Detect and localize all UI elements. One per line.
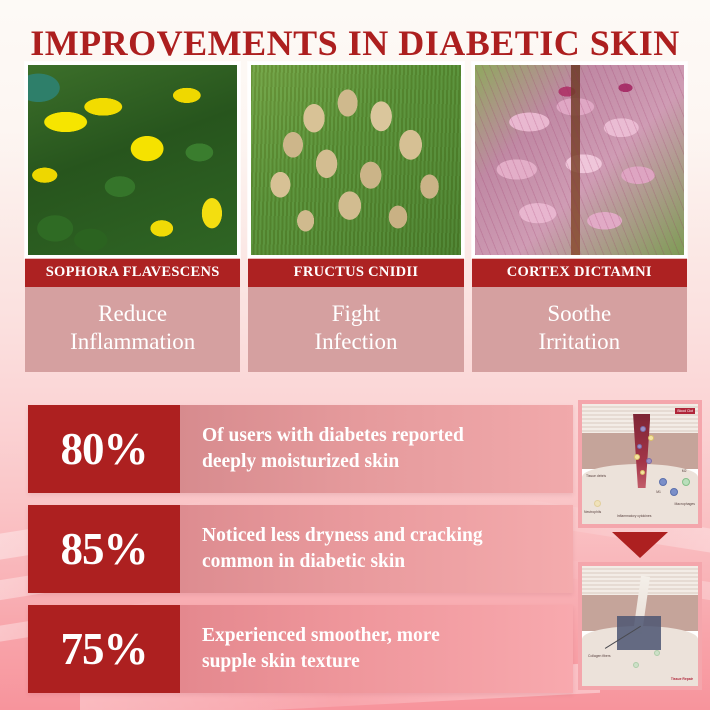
stat-description-line2: deeply moisturized skin — [202, 449, 464, 475]
tissue-repair-diagram: Collagen fibers Tissue Repair — [578, 562, 702, 690]
plant-image-icon — [251, 65, 460, 255]
stat-description: Noticed less dryness and cracking common… — [180, 505, 573, 593]
herb-name-label: SOPHORA FLAVESCENS — [25, 258, 240, 287]
collagen-fiber-dots — [617, 616, 661, 650]
stat-row: 80% Of users with diabetes reported deep… — [28, 405, 573, 493]
herb-benefit-panel: Reduce Inflammation — [25, 287, 240, 372]
stat-description-line2: common in diabetic skin — [202, 549, 483, 575]
herb-card-cnidii: FRUCTUS CNIDII Fight Infection — [248, 62, 463, 372]
herb-benefit-line1: Reduce — [29, 300, 236, 328]
stat-description: Of users with diabetes reported deeply m… — [180, 405, 573, 493]
neutrophil-cell-icon — [640, 470, 645, 475]
herb-benefit-line2: Infection — [252, 328, 459, 356]
diagram-label-blood-clot: Blood Clot — [675, 408, 695, 414]
plant-image-icon — [28, 65, 237, 255]
diagram-column: Blood Clot Tissue debris Neutrophils Inf… — [578, 400, 702, 690]
infographic-page: IMPROVEMENTS IN DIABETIC SKIN SOPHORA FL… — [0, 0, 710, 710]
stat-description-line1: Experienced smoother, more — [202, 623, 440, 649]
statistics-list: 80% Of users with diabetes reported deep… — [28, 405, 573, 705]
diagram-label-inflammatory-cytokines: Inflammatory cytokines — [617, 514, 652, 518]
macrophage-m1-icon — [659, 478, 667, 486]
herb-card-list: SOPHORA FLAVESCENS Reduce Inflammation F… — [25, 62, 687, 372]
platelet-cell-icon — [646, 458, 652, 464]
diagram-label-tissue-debris: Tissue debris — [586, 474, 606, 478]
stat-description-line2: supple skin texture — [202, 649, 440, 675]
wound-healing-diagram: Blood Clot Tissue debris Neutrophils Inf… — [578, 400, 702, 528]
page-title: IMPROVEMENTS IN DIABETIC SKIN — [0, 22, 710, 64]
stat-percent-value: 85% — [28, 505, 180, 593]
herb-name-label: FRUCTUS CNIDII — [248, 258, 463, 287]
herb-card-dictamni: CORTEX DICTAMNI Soothe Irritation — [472, 62, 687, 372]
diagram-label-collagen-fibers: Collagen fibers — [588, 654, 611, 658]
diagram-label-m2: M2 — [682, 469, 687, 473]
stat-row: 75% Experienced smoother, more supple sk… — [28, 605, 573, 693]
herb-benefit-panel: Fight Infection — [248, 287, 463, 372]
stat-description-line1: Of users with diabetes reported — [202, 423, 464, 449]
stat-description: Experienced smoother, more supple skin t… — [180, 605, 573, 693]
platelet-cell-icon — [637, 444, 642, 449]
down-arrow-icon — [612, 532, 668, 558]
herb-photo-sophora — [25, 62, 240, 258]
herb-benefit-line1: Fight — [252, 300, 459, 328]
stat-percent-value: 75% — [28, 605, 180, 693]
diagram-label-tissue-repair: Tissue Repair — [671, 677, 693, 681]
petal-veins-texture — [475, 65, 684, 255]
herb-card-sophora: SOPHORA FLAVESCENS Reduce Inflammation — [25, 62, 240, 372]
stat-percent-value: 80% — [28, 405, 180, 493]
fibroblast-cell-icon — [654, 650, 660, 656]
platelet-cell-icon — [640, 426, 646, 432]
stat-description-line1: Noticed less dryness and cracking — [202, 523, 483, 549]
fibroblast-cell-icon — [633, 662, 639, 668]
herb-benefit-line1: Soothe — [476, 300, 683, 328]
herb-photo-cnidii — [248, 62, 463, 258]
diagram-label-macrophages: Macrophages — [674, 502, 695, 506]
herb-benefit-panel: Soothe Irritation — [472, 287, 687, 372]
herb-benefit-line2: Inflammation — [29, 328, 236, 356]
plant-image-icon — [475, 65, 684, 255]
diagram-label-m1: M1 — [656, 490, 661, 494]
neutrophil-cell-icon — [594, 500, 601, 507]
herb-name-label: CORTEX DICTAMNI — [472, 258, 687, 287]
stat-row: 85% Noticed less dryness and cracking co… — [28, 505, 573, 593]
herb-benefit-line2: Irritation — [476, 328, 683, 356]
diagram-label-neutrophils: Neutrophils — [584, 510, 601, 514]
herb-photo-dictamni — [472, 62, 687, 258]
